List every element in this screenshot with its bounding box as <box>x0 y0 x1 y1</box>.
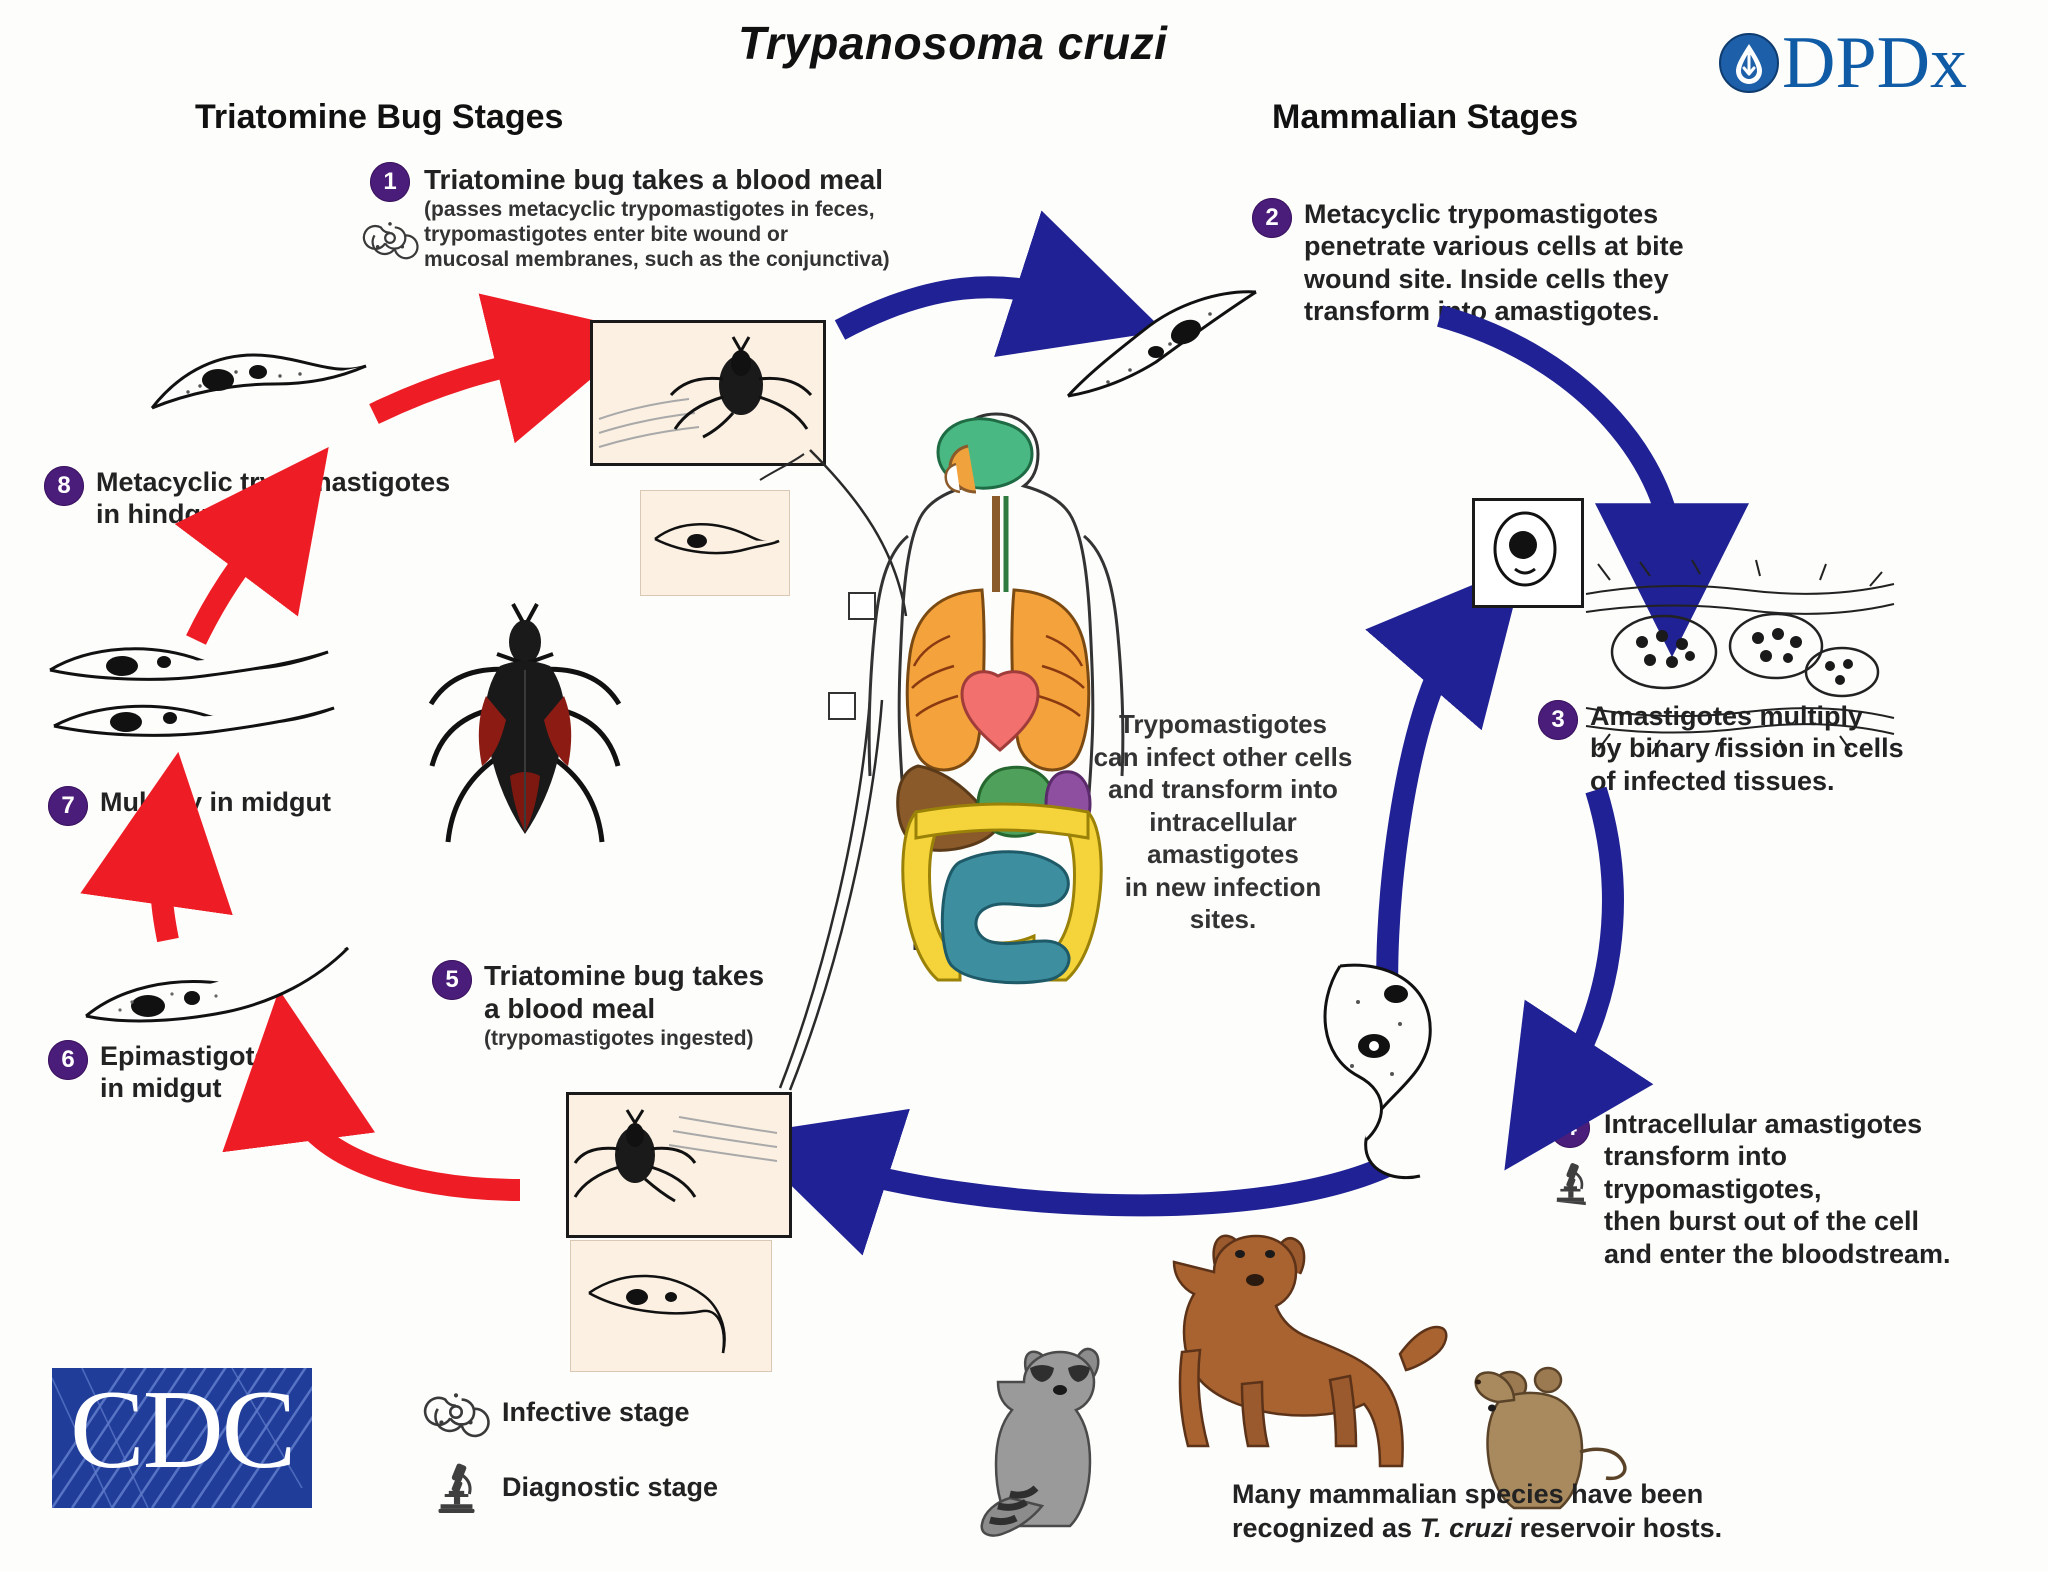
trypomastigote-inset-bottom <box>570 1240 772 1372</box>
bite-site-marker-upper <box>848 592 876 620</box>
biohazard-icon <box>430 1386 482 1438</box>
arrow-1-to-2 <box>840 287 1068 330</box>
arrow-7-to-8 <box>196 528 268 640</box>
arrow-8-to-1 <box>374 356 548 414</box>
arrow-3-to-4 <box>1560 790 1613 1086</box>
amastigote-inset-box <box>1472 498 1584 608</box>
caption-line-1: Many mammalian species have been <box>1232 1478 1792 1512</box>
reservoir-hosts-caption: Many mammalian species have been recogni… <box>1232 1478 1792 1546</box>
caption-line-2-post: reservoir hosts. <box>1512 1513 1722 1543</box>
raccoon-illustration <box>968 1338 1168 1536</box>
bug-feeding-illustration <box>569 1095 783 1229</box>
caption-species-name: T. cruzi <box>1420 1513 1513 1543</box>
arrow-5-to-6 <box>292 1090 520 1190</box>
bug-on-skin-illustration <box>593 323 817 457</box>
bite-smear-panel-bottom <box>566 1092 792 1238</box>
bite-site-marker-lower <box>828 692 856 720</box>
life-cycle-diagram: Trypanosoma cruzi Triatomine Bug Stages … <box>0 0 2048 1572</box>
legend: Infective stage Diagnostic stage <box>430 1386 718 1514</box>
triatomine-bug-illustration <box>420 600 630 880</box>
organ-small-intestine <box>942 852 1069 983</box>
bloodstream-trypomastigote-illustration <box>1300 950 1530 1190</box>
legend-label-infective: Infective stage <box>502 1397 690 1428</box>
legend-label-diagnostic: Diagnostic stage <box>502 1472 718 1503</box>
caption-line-2-pre: recognized as <box>1232 1513 1420 1543</box>
trypomastigote-inset-illustration-2 <box>571 1241 769 1369</box>
metacyclic-trypomastigote-mammalian-illustration <box>1060 270 1270 420</box>
legend-item-infective: Infective stage <box>430 1386 718 1438</box>
infected-tissue-illustration <box>1580 560 1900 750</box>
metacyclic-trypomastigote-illustration <box>140 322 380 442</box>
dog-illustration <box>1152 1218 1442 1468</box>
cdc-logo: CDC <box>52 1368 312 1508</box>
epimastigote-illustration <box>76 930 366 1060</box>
cdc-wordmark: CDC <box>70 1374 294 1486</box>
arrow-6-to-7 <box>161 852 168 940</box>
human-body-illustration <box>800 400 1220 960</box>
multiplying-trypomastigotes-illustration <box>40 630 340 770</box>
legend-item-diagnostic: Diagnostic stage <box>430 1460 718 1514</box>
microscope-icon <box>430 1460 482 1514</box>
amastigote-illustration <box>1475 501 1575 599</box>
